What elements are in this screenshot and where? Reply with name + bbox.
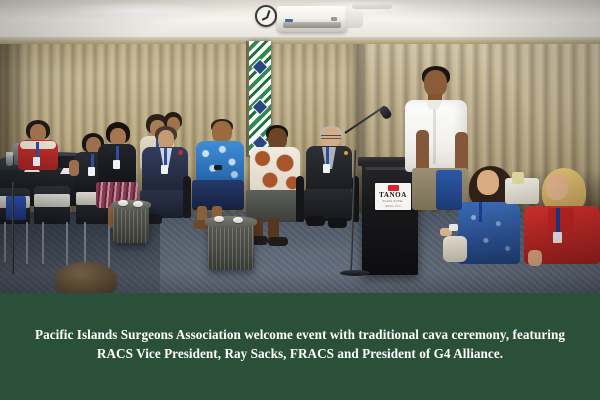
ac-display <box>285 19 293 22</box>
name-badge <box>553 232 562 243</box>
drum-side-table <box>208 222 254 270</box>
shirt-placket <box>433 102 436 164</box>
lapel-pin-icon <box>178 150 183 155</box>
arm <box>69 160 79 176</box>
handbag <box>443 236 467 262</box>
name-badge <box>161 165 168 174</box>
ceiling-light-glow <box>60 2 210 18</box>
shoe <box>328 218 347 228</box>
venue-subtitle: PLAZA HOTEL <box>383 200 404 204</box>
caption-text: Pacific Islands Surgeons Association wel… <box>16 326 584 363</box>
lectern <box>362 163 418 275</box>
panel-diamond-icon <box>252 59 269 76</box>
chair-leg <box>108 222 110 268</box>
face <box>477 170 499 195</box>
lanyard <box>556 208 560 234</box>
drum-table-top <box>111 200 151 210</box>
tanoa-logo-icon <box>388 185 399 191</box>
coffee-cup <box>118 200 128 206</box>
stacking-chair <box>296 176 304 222</box>
lanyard <box>479 202 482 222</box>
lanyard <box>164 148 167 166</box>
torso <box>458 202 520 264</box>
microphone-stand-secondary <box>12 182 14 274</box>
torso <box>196 141 244 183</box>
coffee-cup <box>133 201 143 207</box>
microphone-base <box>340 270 370 276</box>
wall-clock-icon <box>255 5 277 27</box>
background-item <box>512 172 524 184</box>
ac-vent <box>283 22 341 28</box>
face <box>546 174 568 200</box>
torso <box>250 147 300 193</box>
name-badge <box>33 157 40 166</box>
name-badge <box>88 167 95 176</box>
lanyard <box>36 142 39 158</box>
lapel-pin-icon <box>344 151 348 155</box>
caption-band: Pacific Islands Surgeons Association wel… <box>0 293 600 400</box>
chair-leg <box>4 222 6 262</box>
ac-logo <box>331 17 337 21</box>
lanyard <box>116 146 119 161</box>
air-conditioner-unit <box>277 6 347 32</box>
chair-sash <box>34 194 70 207</box>
glasses-icon <box>321 135 341 139</box>
hand <box>528 250 542 266</box>
coffee-cup <box>214 216 224 222</box>
panel-diamond-icon <box>252 99 269 116</box>
drum-table-top <box>205 216 257 228</box>
background-attendee <box>436 170 462 210</box>
chair-leg <box>66 222 68 266</box>
event-photograph: TANOA PLAZA HOTEL SUVA, FIJI <box>0 0 600 293</box>
venue-subtitle-location: SUVA, FIJI <box>385 205 401 209</box>
chair-leg <box>84 222 86 266</box>
lanyard <box>91 154 94 168</box>
name-badge <box>323 164 330 173</box>
phone-icon <box>214 165 222 170</box>
chair-accent <box>6 196 26 220</box>
coffee-cup <box>233 217 243 223</box>
image-container: TANOA PLAZA HOTEL SUVA, FIJI <box>0 0 600 400</box>
drum-side-table <box>113 205 149 243</box>
chair-leg <box>42 222 44 264</box>
chair-leg <box>26 222 28 264</box>
ceiling-pipe <box>352 4 392 9</box>
shoe <box>306 216 325 226</box>
face <box>424 70 447 97</box>
venue-name: TANOA <box>379 192 407 199</box>
lanyard <box>326 147 329 165</box>
stacking-chair <box>183 176 191 218</box>
foreground-attendee-head <box>55 262 117 293</box>
wristwatch-icon <box>449 224 458 231</box>
drinking-glass <box>6 152 13 166</box>
shoe <box>268 237 288 246</box>
face <box>212 121 232 143</box>
venue-sign: TANOA PLAZA HOTEL SUVA, FIJI <box>375 183 411 210</box>
name-badge <box>113 160 120 169</box>
air-conditioner-side <box>345 8 363 28</box>
